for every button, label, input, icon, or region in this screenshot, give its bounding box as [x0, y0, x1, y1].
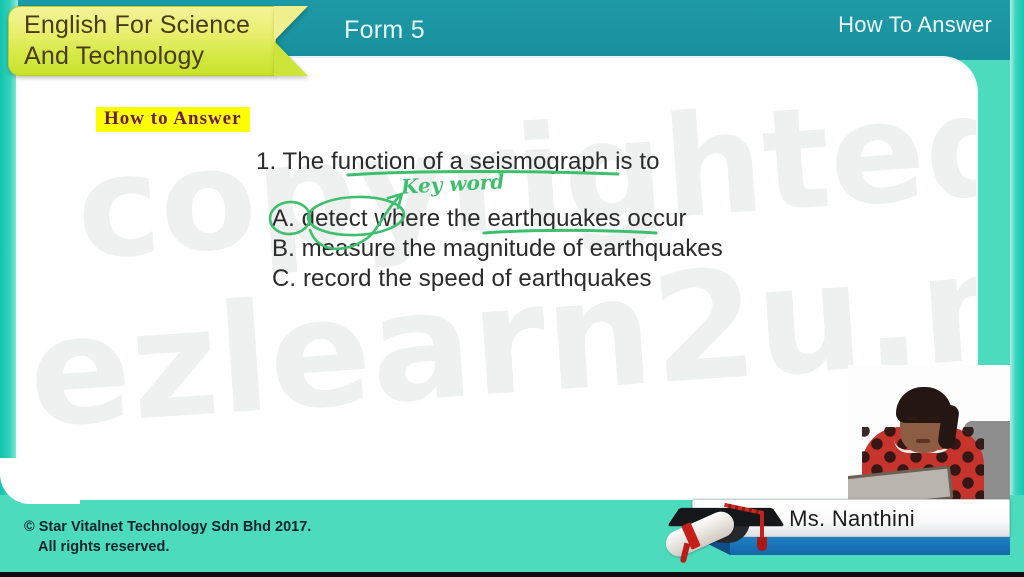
- copyright-line-2: All rights reserved.: [24, 537, 311, 557]
- presenter-mouth: [916, 439, 930, 443]
- copyright-line-1: © Star Vitalnet Technology Sdn Bhd 2017.: [24, 519, 311, 535]
- form-label: Form 5: [344, 16, 425, 45]
- graduation-cap-icon: [668, 497, 788, 559]
- bottom-black-edge: [0, 572, 1024, 577]
- frame-right-edge: [1010, 0, 1024, 577]
- lesson-slide: copyrighted ezlearn2u.my English For Sci…: [0, 0, 1024, 577]
- banner-point: [274, 6, 308, 76]
- topic-label: How To Answer: [838, 12, 992, 38]
- course-title-line-1: English For Science: [24, 10, 274, 41]
- cap-tassel-knob: [757, 537, 767, 551]
- presenter-eye-left: [906, 417, 918, 420]
- option-c: C. record the speed of earthquakes: [272, 265, 652, 293]
- section-title: How to Answer: [96, 107, 250, 132]
- course-title: English For Science And Technology: [24, 10, 274, 72]
- copyright-notice: © Star Vitalnet Technology Sdn Bhd 2017.…: [24, 517, 311, 557]
- presenter-eye-right: [928, 417, 940, 420]
- option-a: A. detect where the earthquakes occur: [272, 205, 687, 233]
- slide-body: How to Answer 1. The function of a seism…: [18, 58, 976, 498]
- option-b: B. measure the magnitude of earthquakes: [272, 235, 723, 263]
- presenter-video: [848, 365, 1010, 505]
- cap-tassel-tail: [760, 511, 764, 539]
- course-title-banner: English For Science And Technology: [8, 6, 304, 76]
- keyword-annotation: Key word: [400, 169, 504, 198]
- presenter-nameplate: Ms. Nanthini: [664, 499, 1010, 561]
- course-title-line-2: And Technology: [24, 41, 274, 72]
